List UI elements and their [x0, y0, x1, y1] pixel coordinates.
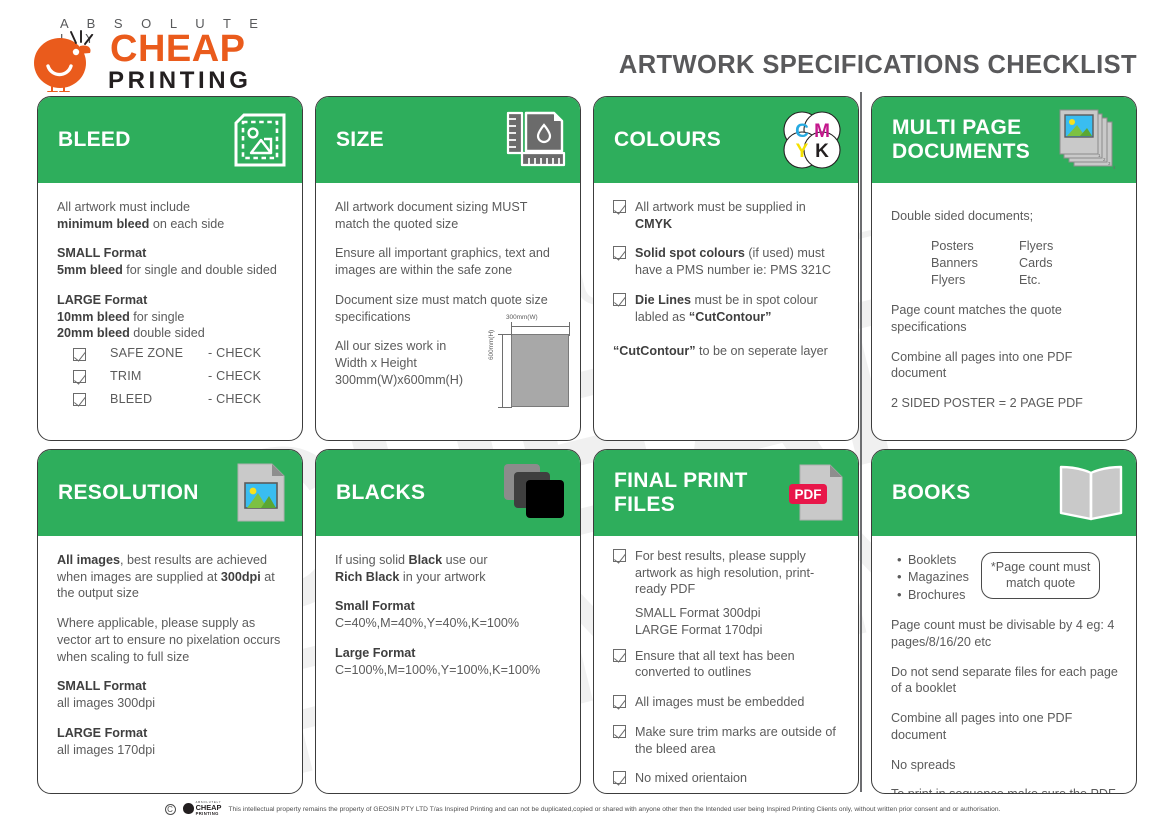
image-file-icon — [234, 461, 290, 525]
size-diagram-tick — [498, 407, 512, 408]
multipage-table: Posters Flyers Banners Cards Flyers Etc. — [891, 238, 1120, 289]
logo-printing-text: PRINTING — [108, 69, 251, 93]
resolution-p2: Where applicable, please supply as vecto… — [57, 615, 286, 665]
card-multipage: MULTI PAGE DOCUMENTS 1 2 3 4 Double side… — [871, 96, 1137, 441]
card-resolution-title: RESOLUTION — [38, 481, 199, 505]
multipage-cell: Flyers — [1019, 238, 1120, 255]
size-diagram-tick — [569, 322, 570, 336]
svg-text:M: M — [814, 121, 830, 142]
checkbox-checked-icon[interactable] — [613, 695, 626, 708]
brand-logo: A B S O L U T E L Y CHEAP PRINTING — [30, 16, 290, 92]
cards-grid: BLEED All artwork must include minimum b… — [0, 96, 1165, 794]
colours-item-strong: Solid spot colours — [635, 246, 745, 260]
books-callout: *Page count must match quote — [981, 552, 1100, 599]
bleed-large-value2: 20mm bleed — [57, 326, 130, 340]
resolution-p1: All images, best results are achieved wh… — [57, 552, 286, 602]
size-p2: Ensure all important graphics, text and … — [335, 245, 564, 278]
finalprint-sub-line2: LARGE Format 170dpi — [635, 623, 762, 637]
colours-item-text: Solid spot colours (if used) must have a… — [635, 245, 842, 278]
books-p4: No spreads — [891, 757, 1120, 774]
finalprint-item-text: No mixed orientaion — [635, 770, 842, 787]
multipage-p2: Page count matches the quote specificati… — [891, 302, 1120, 335]
blacks-p1-text3: in your artwork — [399, 570, 485, 584]
bleed-small-value: 5mm bleed — [57, 263, 123, 277]
page-footer: C ABSOLUTELY CHEAP PRINTING This intelle… — [0, 792, 1165, 826]
ruler-document-icon — [502, 109, 568, 171]
multipage-p4: 2 SIDED POSTER = 2 PAGE PDF — [891, 395, 1120, 412]
finalprint-item-text: All images must be embedded — [635, 694, 842, 711]
page-header: A B S O L U T E L Y CHEAP PRINTING ARTWO… — [0, 0, 1165, 96]
bleed-intro: All artwork must include minimum bleed o… — [57, 199, 286, 232]
bleed-check-row[interactable]: SAFE ZONE - CHECK — [73, 345, 286, 362]
card-blacks-body: If using solid Black use our Rich Black … — [316, 536, 580, 793]
resolution-small-heading: SMALL Format — [57, 679, 146, 693]
bleed-large-text1: for single — [130, 310, 185, 324]
bleed-intro-line1: All artwork must include — [57, 200, 190, 214]
bleed-intro-strong: minimum bleed — [57, 217, 149, 231]
resolution-small-text: all images 300dpi — [57, 696, 155, 710]
checkbox-checked-icon[interactable] — [613, 246, 626, 259]
image-crop-marks-icon — [228, 109, 290, 171]
footer-brand-logo: ABSOLUTELY CHEAP PRINTING — [183, 802, 222, 816]
finalprint-item-text: Make sure trim marks are outside of the … — [635, 724, 842, 757]
blacks-p1-text2: use our — [442, 553, 488, 567]
card-finalprint-header: FINAL PRINT FILES PDF — [594, 450, 858, 536]
bleed-small-heading: SMALL Format — [57, 246, 146, 260]
colours-item-text: All artwork must be supplied in CMYK — [635, 199, 842, 232]
bleed-large-heading: LARGE Format — [57, 293, 147, 307]
size-p4-line2: Width x Height — [335, 356, 417, 370]
svg-text:4: 4 — [1113, 165, 1116, 170]
size-diagram: 300mm(W) 600mm(H) — [490, 314, 574, 412]
cmyk-circles-icon: C M Y K — [778, 108, 846, 172]
books-p2: Do not send separate files for each page… — [891, 664, 1120, 697]
checkbox-checked-icon[interactable] — [73, 348, 86, 361]
checkbox-checked-icon[interactable] — [613, 771, 626, 784]
books-p3: Combine all pages into one PDF document — [891, 710, 1120, 743]
blacks-p1-strong2: Rich Black — [335, 570, 399, 584]
card-bleed: BLEED All artwork must include minimum b… — [37, 96, 303, 441]
books-callout-line2: match quote — [1006, 576, 1075, 590]
card-blacks-header: BLACKS — [316, 450, 580, 536]
multipage-p1: Double sided documents; — [891, 208, 1120, 225]
finalprint-check-item[interactable]: Ensure that all text has been converted … — [613, 648, 842, 681]
resolution-large-heading: LARGE Format — [57, 726, 147, 740]
card-bleed-body: All artwork must include minimum bleed o… — [38, 183, 302, 440]
card-resolution: RESOLUTION All images, best results are … — [37, 449, 303, 794]
blacks-small-heading: Small Format — [335, 599, 415, 613]
colours-footnote-strong: “CutContour” — [613, 344, 696, 358]
finalprint-check-item[interactable]: Make sure trim marks are outside of the … — [613, 724, 842, 757]
card-books-title: BOOKS — [872, 481, 971, 505]
finalprint-sub-line1: SMALL Format 300dpi — [635, 606, 761, 620]
bleed-check-label: SAFE ZONE — [110, 345, 208, 362]
colours-check-item[interactable]: Die Lines must be in spot colour labled … — [613, 292, 842, 325]
books-bullet-list: Booklets Magazines Brochures — [891, 552, 969, 604]
card-blacks-title: BLACKS — [316, 481, 425, 505]
card-blacks: BLACKS If using solid Black use our Rich… — [315, 449, 581, 794]
footer-logo-printing: PRINTING — [196, 812, 222, 816]
size-diagram-rule — [511, 326, 569, 327]
bleed-large-value1: 10mm bleed — [57, 310, 130, 324]
checkbox-checked-icon[interactable] — [613, 293, 626, 306]
bleed-large-format: LARGE Format 10mm bleed for single 20mm … — [57, 292, 286, 342]
card-multipage-title: MULTI PAGE DOCUMENTS — [872, 116, 1030, 163]
books-top-row: Booklets Magazines Brochures *Page count… — [891, 552, 1120, 604]
blacks-p1-strong1: Black — [409, 553, 443, 567]
bleed-intro-tail: on each side — [149, 217, 224, 231]
card-books-header: BOOKS — [872, 450, 1136, 536]
bleed-check-row[interactable]: BLEED - CHECK — [73, 391, 286, 408]
card-colours-body: All artwork must be supplied in CMYK Sol… — [594, 183, 858, 440]
footer-legal-text: This intellectual property remains the p… — [228, 806, 1000, 813]
resolution-small: SMALL Format all images 300dpi — [57, 678, 286, 711]
bleed-check-label: TRIM — [110, 368, 208, 385]
books-bullet: Magazines — [897, 569, 969, 586]
colours-footnote: “CutContour” to be on seperate layer — [613, 343, 842, 360]
books-callout-line1: *Page count must — [991, 560, 1090, 574]
colours-check-item[interactable]: All artwork must be supplied in CMYK — [613, 199, 842, 232]
size-p1: All artwork document sizing MUST match t… — [335, 199, 564, 232]
footer-logo-text: ABSOLUTELY CHEAP PRINTING — [196, 802, 222, 816]
multipage-cell: Flyers — [931, 272, 1019, 289]
blacks-p1-text1: If using solid — [335, 553, 409, 567]
bleed-check-status: - CHECK — [208, 391, 261, 408]
finalprint-check-item[interactable]: For best results, please supply artwork … — [613, 548, 842, 598]
size-diagram-height-label: 600mm(H) — [488, 330, 497, 360]
bleed-small-format: SMALL Format 5mm bleed for single and do… — [57, 245, 286, 278]
multipage-p3: Combine all pages into one PDF document — [891, 349, 1120, 382]
card-bleed-header: BLEED — [38, 97, 302, 183]
pdf-file-icon: PDF — [788, 462, 846, 524]
size-p4-line1: All our sizes work in — [335, 339, 446, 353]
card-bleed-title: BLEED — [38, 128, 131, 152]
card-colours-title: COLOURS — [594, 128, 721, 152]
resolution-p1-strong1: All images — [57, 553, 120, 567]
card-finalprint: FINAL PRINT FILES PDF For best results, … — [593, 449, 859, 794]
resolution-large: LARGE Format all images 170dpi — [57, 725, 286, 758]
page-title: ARTWORK SPECIFICATIONS CHECKLIST — [619, 51, 1137, 80]
bleed-check-label: BLEED — [110, 391, 208, 408]
finalprint-check-item[interactable]: No mixed orientaion — [613, 770, 842, 787]
svg-text:PDF: PDF — [795, 487, 822, 502]
multipage-cell: Etc. — [1019, 272, 1120, 289]
card-finalprint-title: FINAL PRINT FILES — [594, 469, 748, 516]
card-colours: COLOURS C M Y K All artwork must be supp… — [593, 96, 859, 441]
svg-text:Y: Y — [796, 141, 809, 162]
finalprint-item-text: Ensure that all text has been converted … — [635, 648, 842, 681]
checkbox-checked-icon[interactable] — [613, 649, 626, 662]
blacks-large: Large Format C=100%,M=100%,Y=100%,K=100% — [335, 645, 564, 678]
card-multipage-header: MULTI PAGE DOCUMENTS 1 2 3 4 — [872, 97, 1136, 183]
blacks-small: Small Format C=40%,M=40%,Y=40%,K=100% — [335, 598, 564, 631]
open-book-icon — [1058, 463, 1124, 523]
resolution-p1-strong2: 300dpi — [221, 570, 261, 584]
checkbox-checked-icon[interactable] — [73, 370, 86, 383]
bird-logo-icon — [30, 30, 104, 92]
stacked-pages-icon: 1 2 3 4 — [1058, 108, 1124, 172]
bleed-check-status: - CHECK — [208, 368, 261, 385]
card-size-header: SIZE — [316, 97, 580, 183]
card-books-body: Booklets Magazines Brochures *Page count… — [872, 536, 1136, 794]
finalprint-sub: SMALL Format 300dpi LARGE Format 170dpi — [613, 605, 842, 638]
card-size: SIZE All artwork document sizing MUST ma… — [315, 96, 581, 441]
card-multipage-body: Double sided documents; Posters Flyers B… — [872, 183, 1136, 440]
bleed-check-row[interactable]: TRIM - CHECK — [73, 368, 286, 385]
bleed-large-text2: double sided — [130, 326, 205, 340]
checkbox-checked-icon[interactable] — [613, 200, 626, 213]
svg-text:C: C — [795, 121, 809, 142]
card-resolution-header: RESOLUTION — [38, 450, 302, 536]
books-p1: Page count must be divisable by 4 eg: 4 … — [891, 617, 1120, 650]
bleed-small-text: for single and double sided — [123, 263, 277, 277]
multipage-cell: Posters — [931, 238, 1019, 255]
card-size-body: All artwork document sizing MUST match t… — [316, 183, 580, 440]
books-bullet: Brochures — [897, 587, 969, 604]
blacks-p1: If using solid Black use our Rich Black … — [335, 552, 564, 585]
multipage-cell: Cards — [1019, 255, 1120, 272]
size-diagram-tick — [498, 334, 512, 335]
card-resolution-body: All images, best results are achieved wh… — [38, 536, 302, 793]
copyright-icon: C — [165, 804, 176, 815]
bleed-checklist: SAFE ZONE - CHECK TRIM - CHECK BLEED - C… — [57, 345, 286, 407]
colours-item-text: Die Lines must be in spot colour labled … — [635, 292, 842, 325]
size-diagram-rect — [511, 334, 569, 407]
footer-bird-icon — [183, 803, 194, 814]
card-finalprint-body: For best results, please supply artwork … — [594, 536, 858, 794]
colours-footnote-text: to be on seperate layer — [696, 344, 828, 358]
card-colours-header: COLOURS C M Y K — [594, 97, 858, 183]
blacks-large-values: C=100%,M=100%,Y=100%,K=100% — [335, 663, 540, 677]
logo-cheap-text: CHEAP — [110, 30, 246, 68]
finalprint-item-text: For best results, please supply artwork … — [635, 548, 842, 598]
checkbox-checked-icon[interactable] — [73, 393, 86, 406]
multipage-cell: Banners — [931, 255, 1019, 272]
checkbox-checked-icon[interactable] — [613, 725, 626, 738]
checkbox-checked-icon[interactable] — [613, 549, 626, 562]
svg-text:K: K — [815, 141, 829, 162]
colours-item-strong2: “CutContour” — [689, 310, 772, 324]
size-p4-line3: 300mm(W)x600mm(H) — [335, 373, 463, 387]
colours-item-strong: CMYK — [635, 217, 672, 231]
blacks-large-heading: Large Format — [335, 646, 415, 660]
stacked-black-squares-icon — [502, 462, 568, 524]
resolution-large-text: all images 170dpi — [57, 743, 155, 757]
colours-item-strong: Die Lines — [635, 293, 691, 307]
card-size-title: SIZE — [316, 128, 384, 152]
books-bullet: Booklets — [897, 552, 969, 569]
card-books: BOOKS Booklets Magazines Brochures *Page… — [871, 449, 1137, 794]
bleed-check-status: - CHECK — [208, 345, 261, 362]
colours-item-plain: All artwork must be supplied in — [635, 200, 806, 214]
blacks-small-values: C=40%,M=40%,Y=40%,K=100% — [335, 616, 519, 630]
size-diagram-rule — [502, 334, 503, 407]
finalprint-check-item[interactable]: All images must be embedded — [613, 694, 842, 711]
colours-check-item[interactable]: Solid spot colours (if used) must have a… — [613, 245, 842, 278]
